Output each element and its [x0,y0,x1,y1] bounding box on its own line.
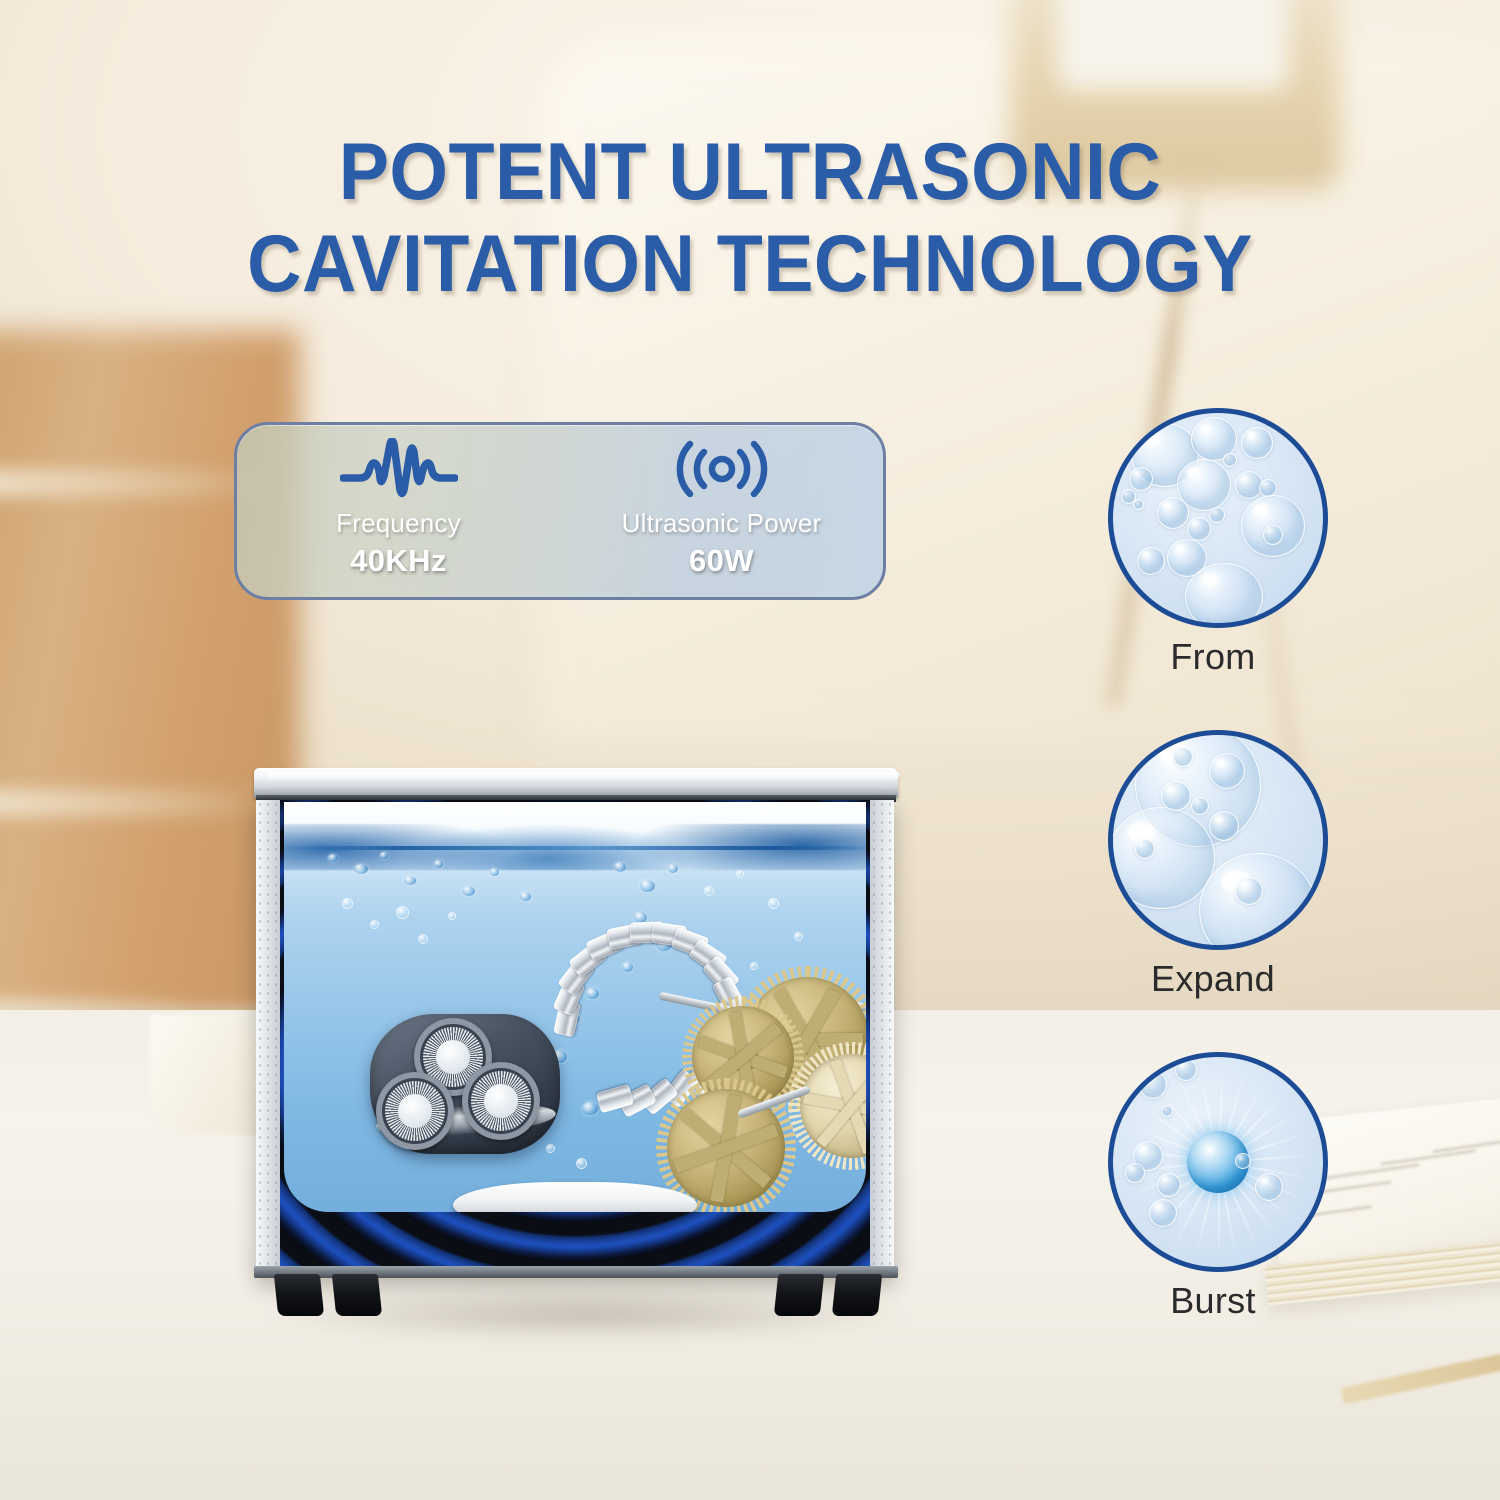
headline-line-2: CAVITATION TECHNOLOGY [53,218,1448,310]
lid-highlight [268,772,900,779]
waveform-icon [340,438,458,500]
bubbles-small-icon [1108,408,1328,628]
cavitation-step-list: From Expand [1098,408,1398,1374]
device-foot [274,1274,324,1316]
stainless-rail-left [256,800,280,1278]
stainless-rail-right [870,800,894,1278]
water-tank [284,802,866,1212]
shaver-foil-head [376,1072,454,1150]
spec-item-power: Ultrasonic Power 60W [560,425,883,597]
cavitation-step-expand: Expand [1098,730,1398,1000]
spec-label: Ultrasonic Power [622,508,822,539]
cabinet-drawer-line [0,790,270,816]
headline: POTENT ULTRASONIC CAVITATION TECHNOLOGY [53,126,1448,311]
bubbles-large-icon [1108,730,1328,950]
spec-label: Frequency [336,508,461,539]
device-foot [774,1274,824,1316]
device-lid [254,768,898,798]
shaver-head [370,1014,560,1164]
shaver-foil-head [462,1062,540,1140]
cavitation-step-from: From [1098,408,1398,678]
cavitation-step-burst: Burst [1098,1052,1398,1322]
step-label: Burst [1098,1280,1328,1322]
sofa-cushion-inner [1058,0,1288,90]
ultrasonic-cleaner [246,768,906,1328]
step-label: Expand [1098,958,1328,1000]
device-foot [332,1274,382,1316]
watch-gears [682,970,866,1200]
sonic-wave-icon [668,438,776,500]
rail-texture [256,800,280,1278]
spec-panel: Frequency 40KHz Ultrasonic Power 60W [234,422,886,600]
headline-line-1: POTENT ULTRASONIC [53,126,1448,218]
spec-item-frequency: Frequency 40KHz [237,425,560,597]
transducer-disc [453,1182,697,1212]
spec-value: 60W [689,543,754,579]
device-foot [832,1274,882,1316]
rail-texture [870,800,894,1278]
bubble-burst-icon [1108,1052,1328,1272]
marketing-image: POTENT ULTRASONIC CAVITATION TECHNOLOGY … [0,0,1500,1500]
spec-value: 40KHz [350,543,447,579]
device-body [256,800,894,1278]
water-line [284,846,866,850]
step-label: From [1098,636,1328,678]
cabinet-drawer-line [0,470,270,496]
